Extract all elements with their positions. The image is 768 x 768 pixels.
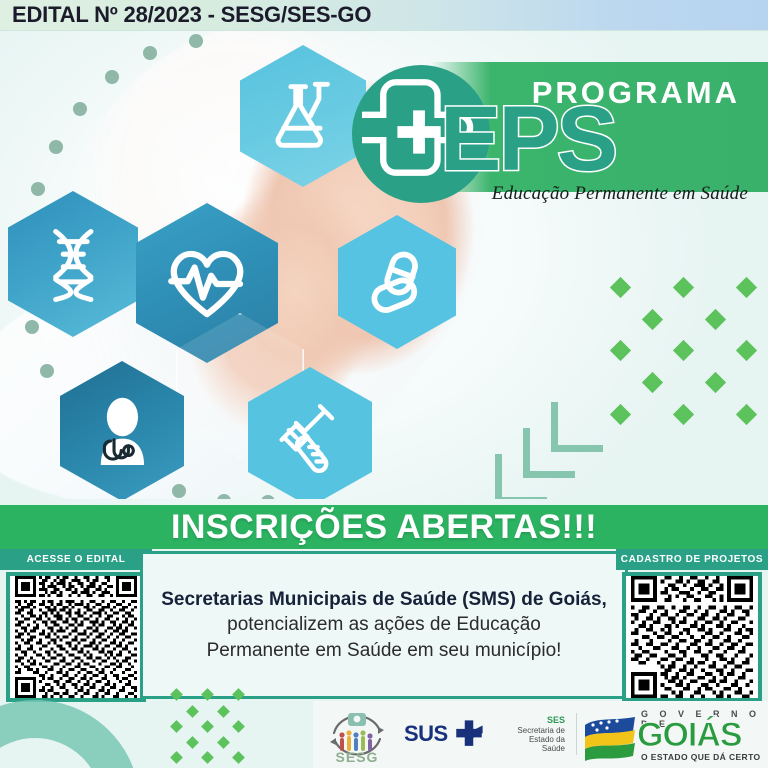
qr-block-cadastro[interactable]: CADASTRO DE PROJETOS <box>616 549 768 702</box>
doctor-stethoscope-icon <box>84 388 161 475</box>
ses-line-1: Secretaria de <box>489 726 565 735</box>
goias-government-logo: G O V E R N O D E GOIÁS O ESTADO QUE DÁ … <box>585 709 761 763</box>
qr-frame-cadastro <box>622 572 762 702</box>
sesg-logo-icon: SESG <box>322 705 392 765</box>
goias-tagline: O ESTADO QUE DÁ CERTO <box>641 752 761 762</box>
cta-banner: INSCRIÇÕES ABERTAS!!! <box>0 505 768 549</box>
footer: SESG SUS SES Secretaria de Estado da Saú… <box>0 701 768 768</box>
ses-line-2: Estado da <box>489 735 565 744</box>
qr-label-cadastro: CADASTRO DE PROJETOS <box>616 549 768 570</box>
qr-code-icon-edital[interactable] <box>10 576 142 698</box>
ses-line-3: Saúde <box>489 744 565 753</box>
qr-code-icon-cadastro[interactable] <box>626 576 758 698</box>
qr-block-edital[interactable]: ACESSE O EDITAL <box>0 549 152 702</box>
pill-capsule-icon <box>360 240 433 323</box>
sus-cross-icon <box>452 718 486 750</box>
qr-message-row: ACESSE O EDITAL <box>0 549 768 701</box>
dna-helix-icon <box>33 219 114 310</box>
logo-acronym: EPS <box>440 97 615 182</box>
page-title: EDITAL Nº 28/2023 - SESG/SES-GO <box>0 2 371 28</box>
poster-canvas: EDITAL Nº 28/2023 - SESG/SES-GO <box>0 0 768 768</box>
qr-label-edital: ACESSE O EDITAL <box>0 549 152 570</box>
ses-title: SES <box>489 715 565 726</box>
message-line-2: potencializem as ações de Educação <box>227 612 541 638</box>
header-bar: EDITAL Nº 28/2023 - SESG/SES-GO <box>0 0 768 31</box>
syringe-thermometer-icon <box>272 394 349 481</box>
goias-flag-icon <box>583 715 639 761</box>
logo-subtitle: Educação Permanente em Saúde <box>492 183 748 205</box>
message-line-3: Permanente em Saúde em seu município! <box>207 638 562 664</box>
lab-flask-icon <box>264 72 342 160</box>
qr-frame-edital <box>6 572 146 702</box>
svg-text:SESG: SESG <box>336 749 379 765</box>
message-line-1: Secretarias Municipais de Saúde (SMS) de… <box>161 587 607 612</box>
ses-logo-text: SES Secretaria de Estado da Saúde <box>489 715 565 754</box>
eps-logo: PROGRAMA EPS Educação Permanente em Saúd… <box>352 55 762 205</box>
sus-label: SUS <box>404 721 448 747</box>
hero-section: PROGRAMA EPS Educação Permanente em Saúd… <box>0 31 768 499</box>
sus-logo: SUS <box>404 717 486 751</box>
goias-state-label: GOIÁS <box>637 718 742 752</box>
message-box: Secretarias Municipais de Saúde (SMS) de… <box>140 551 628 699</box>
cta-text: INSCRIÇÕES ABERTAS!!! <box>171 508 597 547</box>
footer-divider <box>576 713 577 755</box>
